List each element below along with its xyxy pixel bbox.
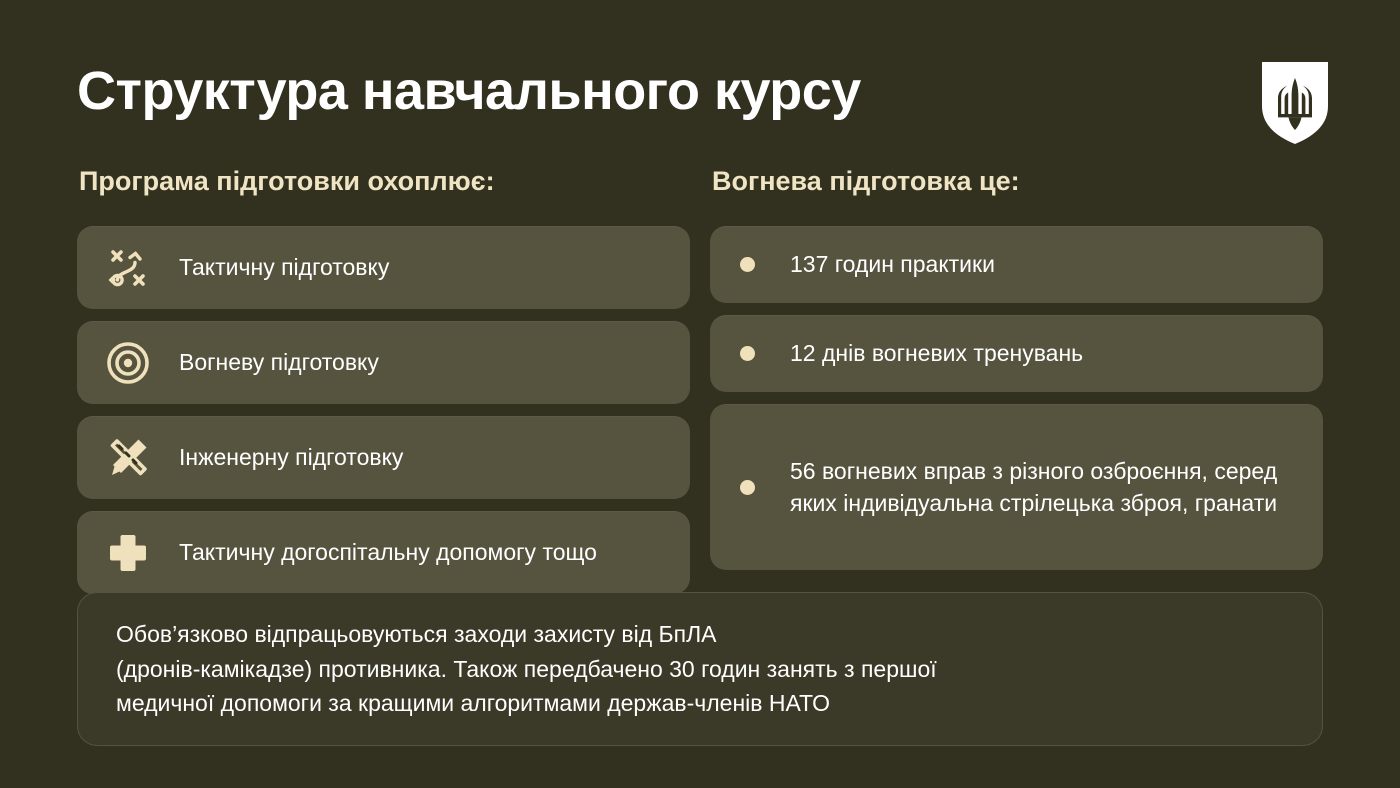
list-item-live-fire-days: 12 днів вогневих тренувань [710,315,1323,392]
bullet-icon [740,257,755,272]
list-item-engineering-training: Інженерну підготовку [77,416,690,499]
list-item-firing-exercises: 56 вогневих вправ з різного озброєння, с… [710,404,1323,570]
list-item-prehospital-care: Тактичну догоспітальну допомогу тощо [77,511,690,594]
list-item-tactical-training: Тактичну підготовку [77,226,690,309]
footer-note: Обов’язково відпрацьовуються заходи захи… [77,592,1323,746]
medical-cross-icon [105,530,151,576]
list-item-label: Тактичну догоспітальну допомогу тощо [179,537,597,567]
list-item-label: Інженерну підготовку [179,442,403,472]
footer-note-text: Обов’язково відпрацьовуються заходи захи… [116,617,937,721]
infographic-slide: Структура навчального курсу Програма під… [0,0,1400,788]
list-item-label: Тактичну підготовку [179,252,389,282]
page-title: Структура навчального курсу [77,60,861,122]
tactics-play-icon [105,245,151,291]
target-icon [105,340,151,386]
list-item-practice-hours: 137 годин практики [710,226,1323,303]
list-item-label: Вогневу підготовку [179,347,379,377]
bullet-icon [740,346,755,361]
list-item-label: 137 годин практики [790,248,995,280]
right-column-heading: Вогнева підготовка це: [712,166,1020,197]
left-column-heading: Програма підготовки охоплює: [79,166,495,197]
list-item-firearms-training: Вогневу підготовку [77,321,690,404]
list-item-label: 56 вогневих вправ з різного озброєння, с… [790,455,1299,519]
list-item-label: 12 днів вогневих тренувань [790,337,1083,369]
ruler-pencil-icon [105,435,151,481]
bullet-icon [740,480,755,495]
left-column-list: Тактичну підготовку Вогневу підготовку [77,226,690,594]
ukraine-mod-trident-shield-icon [1262,62,1328,144]
right-column-list: 137 годин практики 12 днів вогневих трен… [710,226,1323,570]
